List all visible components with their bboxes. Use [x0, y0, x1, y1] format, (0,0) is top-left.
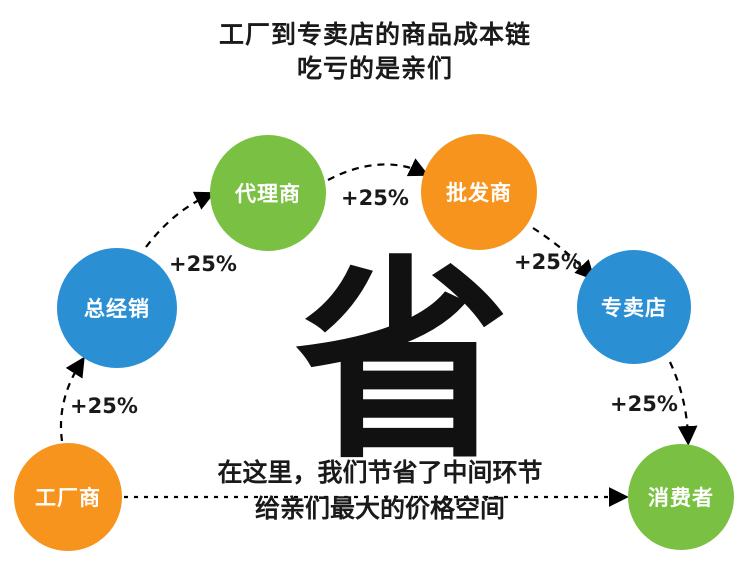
node-store-label: 专卖店 [601, 292, 667, 322]
node-consumer-label: 消费者 [648, 482, 714, 512]
node-agent[interactable]: 代理商 [210, 135, 326, 251]
page-title: 工厂到专卖店的商品成本链 吃亏的是亲们 [0, 18, 750, 86]
title-line-1: 工厂到专卖店的商品成本链 [219, 20, 531, 49]
node-wholesaler-label: 批发商 [446, 177, 512, 207]
node-factory[interactable]: 工厂商 [14, 443, 122, 551]
bottom-line-1: 在这里，我们节省了中间环节 [165, 455, 595, 491]
arrow-distributor-to-agent [146, 196, 207, 247]
node-distributor-label: 总经销 [84, 293, 150, 323]
node-wholesaler[interactable]: 批发商 [421, 134, 537, 250]
percent-factory-to-distributor: +25% [70, 394, 138, 418]
node-store[interactable]: 专卖店 [577, 250, 691, 364]
node-consumer[interactable]: 消费者 [628, 444, 734, 550]
percent-distributor-to-agent: +25% [169, 252, 237, 276]
bottom-message: 在这里，我们节省了中间环节 给亲们最大的价格空间 [165, 455, 595, 527]
node-factory-label: 工厂商 [35, 482, 101, 512]
bottom-line-2: 给亲们最大的价格空间 [165, 491, 595, 527]
title-line-2: 吃亏的是亲们 [0, 52, 750, 86]
percent-agent-to-wholesaler: +25% [341, 186, 409, 210]
percent-store-to-consumer: +25% [610, 392, 678, 416]
node-distributor[interactable]: 总经销 [57, 248, 177, 368]
node-agent-label: 代理商 [235, 178, 301, 208]
arrow-agent-to-wholesaler [328, 164, 421, 180]
percent-wholesaler-to-store: +25% [514, 250, 582, 274]
center-character: 省 [295, 255, 510, 470]
diagram-canvas: 工厂到专卖店的商品成本链 吃亏的是亲们 工厂商 总经销 代理商 批发商 专卖 [0, 0, 750, 588]
